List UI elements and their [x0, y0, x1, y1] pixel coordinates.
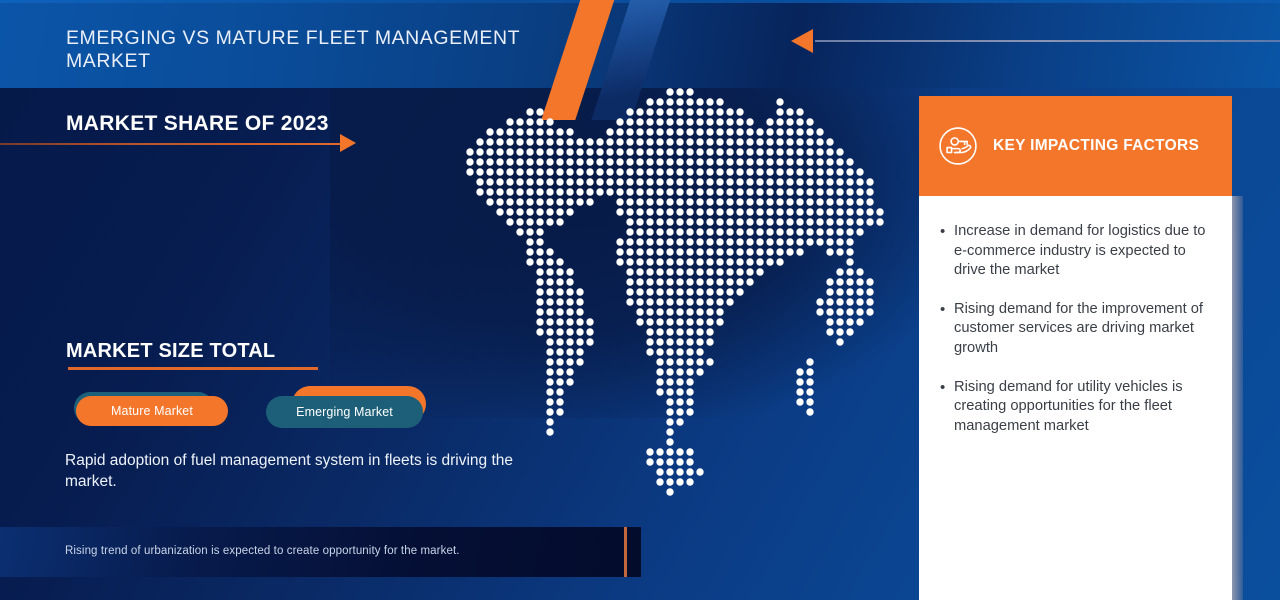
- bullet-icon: •: [940, 222, 954, 242]
- bullet-icon: •: [940, 300, 954, 320]
- market-size-description: Rapid adoption of fuel management system…: [65, 450, 555, 492]
- bullet-icon: •: [940, 378, 954, 398]
- legend-pill-emerging-market[interactable]: Emerging Market: [266, 386, 441, 434]
- list-item: •Rising demand for utility vehicles is c…: [940, 378, 1220, 437]
- legend-pill-mature-market[interactable]: Mature Market: [74, 392, 244, 432]
- infographic-canvas: EMERGING VS MATURE FLEET MANAGEMENT MARK…: [0, 0, 1280, 600]
- pill-label-mature: Mature Market: [76, 396, 228, 426]
- market-share-rule: [0, 143, 342, 145]
- arrow-right-icon: [340, 134, 356, 152]
- hand-holding-key-icon: [937, 125, 979, 167]
- list-item: •Rising demand for the improvement of cu…: [940, 300, 1220, 359]
- dotted-world-map: [436, 88, 906, 498]
- bottom-banner-text: Rising trend of urbanization is expected…: [65, 545, 460, 557]
- key-factors-list: •Increase in demand for logistics due to…: [940, 222, 1220, 455]
- page-title: EMERGING VS MATURE FLEET MANAGEMENT MARK…: [66, 27, 536, 73]
- key-factors-header: KEY IMPACTING FACTORS: [919, 96, 1232, 196]
- list-item-text: Rising demand for utility vehicles is cr…: [954, 378, 1220, 437]
- bottom-banner-divider: [624, 527, 627, 577]
- list-item-text: Increase in demand for logistics due to …: [954, 222, 1220, 281]
- market-size-underline: [68, 367, 318, 370]
- arrow-left-icon: [791, 29, 813, 53]
- market-share-heading: MARKET SHARE OF 2023: [66, 112, 329, 136]
- world-map-svg: [436, 88, 906, 498]
- market-size-heading: MARKET SIZE TOTAL: [66, 340, 275, 363]
- key-factors-title: KEY IMPACTING FACTORS: [993, 137, 1199, 155]
- list-item: •Increase in demand for logistics due to…: [940, 222, 1220, 281]
- panel-shadow: [1232, 196, 1243, 600]
- top-arrow-line: [815, 40, 1280, 42]
- pill-label-emerging: Emerging Market: [266, 396, 423, 428]
- list-item-text: Rising demand for the improvement of cus…: [954, 300, 1220, 359]
